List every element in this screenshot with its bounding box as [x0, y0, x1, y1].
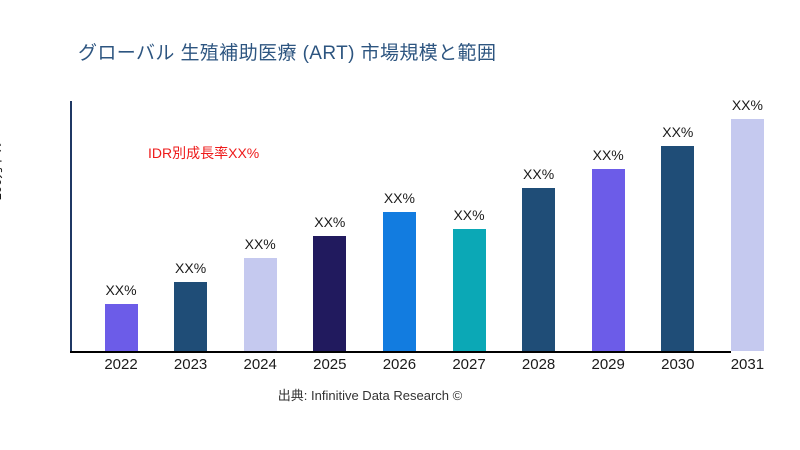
bar-2025[interactable] — [313, 236, 346, 351]
bar-value-label-2025: XX% — [300, 214, 360, 230]
bar-2031[interactable] — [731, 119, 764, 351]
chart-container: グローバル 生殖補助医療 (ART) 市場規模と範囲 100万ドル IDR別成長… — [0, 0, 800, 450]
bar-2022[interactable] — [105, 304, 138, 351]
bar-value-label-2030: XX% — [648, 124, 708, 140]
bar-value-label-2029: XX% — [578, 147, 638, 163]
bar-2023[interactable] — [174, 282, 207, 351]
bar-2027[interactable] — [453, 229, 486, 351]
bar-value-label-2031: XX% — [717, 97, 777, 113]
bar-value-label-2023: XX% — [161, 260, 221, 276]
x-axis-tick-2024: 2024 — [230, 356, 290, 373]
source-note: 出典: Infinitive Data Research © — [0, 385, 740, 404]
x-axis-tick-2025: 2025 — [300, 356, 360, 373]
bar-2030[interactable] — [661, 146, 694, 351]
x-axis-tick-2031: 2031 — [717, 356, 777, 373]
bar-value-label-2024: XX% — [230, 236, 290, 252]
x-axis-tick-2029: 2029 — [578, 356, 638, 373]
bar-2026[interactable] — [383, 212, 416, 351]
bar-value-label-2026: XX% — [369, 190, 429, 206]
x-axis-tick-2023: 2023 — [161, 356, 221, 373]
x-axis-tick-2026: 2026 — [369, 356, 429, 373]
bar-value-label-2027: XX% — [439, 207, 499, 223]
x-axis-tick-2027: 2027 — [439, 356, 499, 373]
x-axis-tick-2030: 2030 — [648, 356, 708, 373]
bar-value-label-2022: XX% — [91, 282, 151, 298]
bar-2024[interactable] — [244, 258, 277, 351]
bar-2028[interactable] — [522, 188, 555, 351]
x-axis-tick-2028: 2028 — [509, 356, 569, 373]
x-axis-tick-2022: 2022 — [91, 356, 151, 373]
bar-value-label-2028: XX% — [509, 166, 569, 182]
bar-2029[interactable] — [592, 169, 625, 351]
plot-area: XX%2022XX%2023XX%2024XX%2025XX%2026XX%20… — [0, 0, 800, 450]
